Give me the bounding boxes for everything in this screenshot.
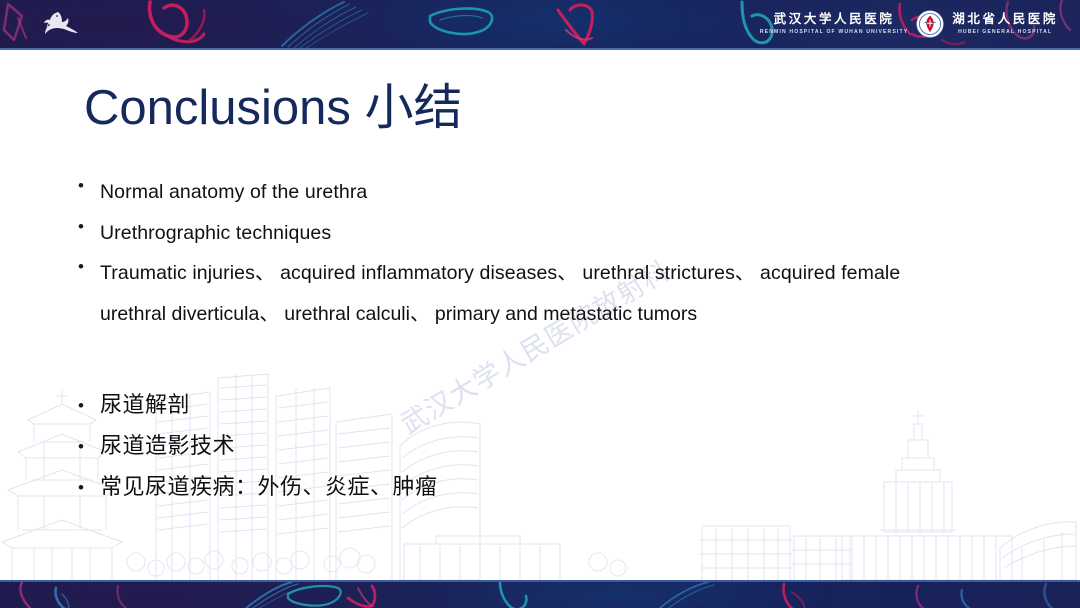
bottom-banner bbox=[0, 580, 1080, 608]
logo-hubei-cn: 湖北省人民医院 bbox=[952, 13, 1058, 26]
list-item: • 常见尿道疾病：外伤、炎症、肿瘤 bbox=[78, 470, 1018, 506]
bullet-text: 尿道造影技术 bbox=[100, 429, 235, 465]
logo-renmin-cn: 武汉大学人民医院 bbox=[774, 13, 895, 26]
logo-hubei-hospital: 湖北省人民医院 HUBEI GENERAL HOSPITAL bbox=[952, 13, 1058, 35]
list-item: • Urethrographic techniques bbox=[78, 213, 1018, 254]
top-banner: 武汉大学人民医院 RENMIN HOSPITAL OF WUHAN UNIVER… bbox=[0, 0, 1080, 50]
list-item: • 尿道解剖 bbox=[78, 388, 1018, 424]
list-item: • 尿道造影技术 bbox=[78, 429, 1018, 465]
bullet-marker: • bbox=[78, 213, 100, 241]
bullet-marker: • bbox=[78, 429, 100, 465]
chinese-bullet-list: • 尿道解剖 • 尿道造影技术 • 常见尿道疾病：外伤、炎症、肿瘤 bbox=[78, 388, 1018, 511]
hospital-logo-group: 武汉大学人民医院 RENMIN HOSPITAL OF WUHAN UNIVER… bbox=[760, 7, 1058, 41]
bullet-marker: • bbox=[78, 388, 100, 424]
hospital-emblem-icon bbox=[916, 10, 944, 38]
bullet-text: 常见尿道疾病：外伤、炎症、肿瘤 bbox=[100, 470, 438, 506]
bullet-text: Normal anatomy of the urethra bbox=[100, 172, 367, 213]
bullet-marker: • bbox=[78, 253, 100, 281]
english-bullet-list: • Normal anatomy of the urethra • Urethr… bbox=[78, 172, 1018, 334]
page-title: Conclusions 小结 bbox=[84, 68, 463, 139]
bullet-text: Traumatic injuries、 acquired inflammator… bbox=[100, 253, 900, 294]
slide-canvas: 武汉大学人民医院 RENMIN HOSPITAL OF WUHAN UNIVER… bbox=[0, 0, 1080, 608]
bullet-text: Urethrographic techniques bbox=[100, 213, 331, 254]
logo-renmin-en: RENMIN HOSPITAL OF WUHAN UNIVERSITY bbox=[760, 30, 908, 35]
bullet-marker: • bbox=[78, 172, 100, 200]
bullet-text-wrapped-line: urethral diverticula、 urethral calculi、 … bbox=[78, 294, 1018, 335]
bullet-text: 尿道解剖 bbox=[100, 388, 190, 424]
logo-hubei-en: HUBEI GENERAL HOSPITAL bbox=[958, 30, 1052, 35]
list-item: • Normal anatomy of the urethra bbox=[78, 172, 1018, 213]
bottom-banner-ribbon-decorations bbox=[0, 582, 1080, 608]
crane-bird-icon bbox=[38, 9, 80, 39]
list-item: • Traumatic injuries、 acquired inflammat… bbox=[78, 253, 1018, 294]
bullet-marker: • bbox=[78, 470, 100, 506]
logo-renmin-hospital: 武汉大学人民医院 RENMIN HOSPITAL OF WUHAN UNIVER… bbox=[760, 13, 908, 35]
